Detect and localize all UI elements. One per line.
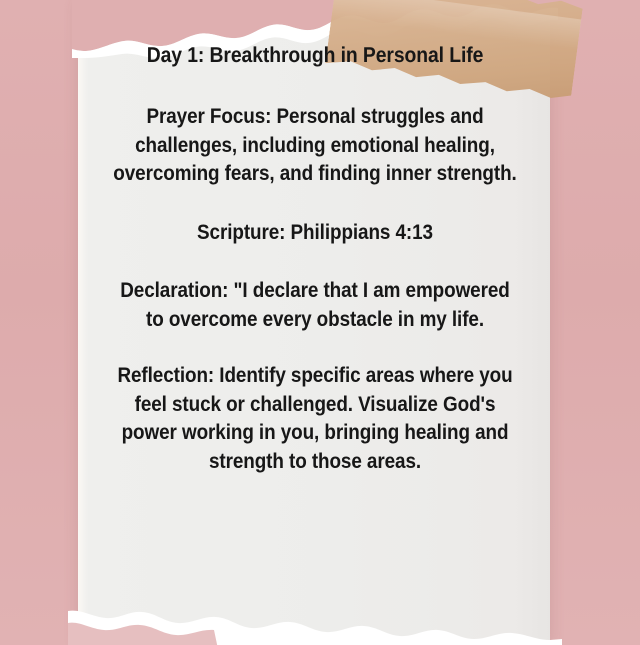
card-content: Day 1: Breakthrough in Personal Life Pra… — [86, 42, 544, 476]
section-prayer-focus: Prayer Focus: Personal struggles and cha… — [109, 103, 521, 189]
spacer — [86, 69, 544, 103]
spacer — [86, 189, 544, 219]
section-reflection: Reflection: Identify specific areas wher… — [109, 362, 521, 476]
section-scripture: Scripture: Philippians 4:13 — [109, 219, 521, 248]
card-title: Day 1: Breakthrough in Personal Life — [109, 42, 521, 69]
torn-paper-edge-bottom-icon — [68, 593, 562, 645]
section-declaration: Declaration: "I declare that I am empowe… — [109, 277, 521, 334]
devotional-card-canvas: Day 1: Breakthrough in Personal Life Pra… — [0, 0, 640, 645]
spacer — [86, 334, 544, 362]
spacer — [86, 247, 544, 277]
